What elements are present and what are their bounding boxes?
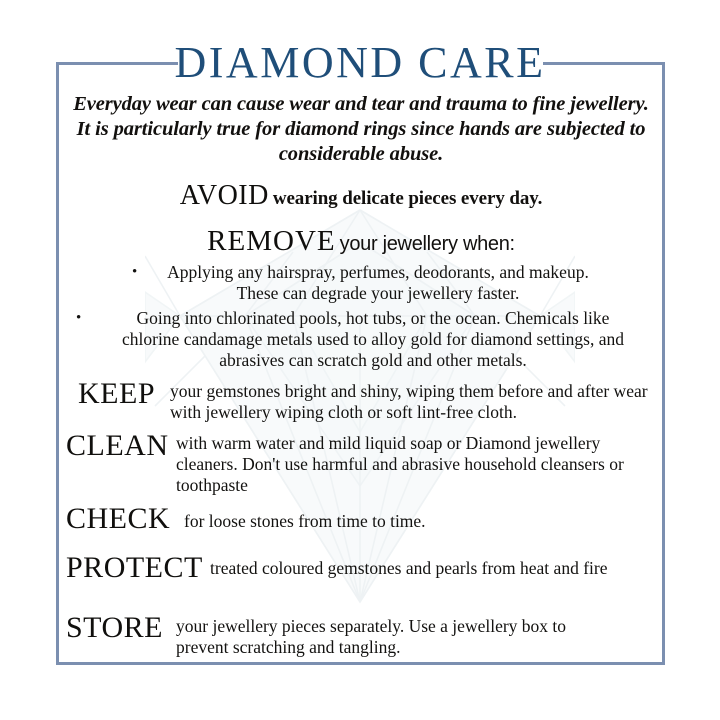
diamond-care-poster: DIAMOND CARE Everyday wear can cause wea…	[0, 0, 720, 720]
section-keyword: CLEAN	[66, 430, 169, 462]
avoid-line: AVOID wearing delicate pieces every day.	[66, 180, 656, 212]
bullet-icon: •	[76, 308, 81, 329]
intro-paragraph: Everyday wear can cause wear and tear an…	[66, 92, 656, 167]
section-keyword: KEEP	[78, 378, 155, 410]
section-keyword: CHECK	[66, 503, 170, 535]
remove-keyword: REMOVE	[207, 225, 335, 257]
list-item-text: Applying any hairspray, perfumes, deodor…	[167, 262, 589, 303]
remove-bullet-list: • Applying any hairspray, perfumes, deod…	[66, 262, 656, 375]
avoid-keyword: AVOID	[180, 180, 269, 211]
list-item: • Going into chlorinated pools, hot tubs…	[66, 308, 656, 371]
section-keyword: PROTECT	[66, 552, 203, 584]
poster-content: DIAMOND CARE Everyday wear can cause wea…	[0, 0, 720, 720]
remove-text: your jewellery when:	[340, 233, 515, 255]
section-text: treated coloured gemstones and pearls fr…	[210, 558, 650, 579]
section-text: for loose stones from time to time.	[184, 511, 654, 532]
section-text: with warm water and mild liquid soap or …	[176, 433, 662, 496]
avoid-text: wearing delicate pieces every day.	[273, 188, 542, 209]
list-item: • Applying any hairspray, perfumes, deod…	[66, 262, 656, 304]
remove-line: REMOVE your jewellery when:	[66, 225, 656, 258]
page-title: DIAMOND CARE	[0, 40, 720, 86]
section-text: your gemstones bright and shiny, wiping …	[170, 381, 660, 423]
section-keyword: STORE	[66, 612, 163, 644]
section-text: your jewellery pieces separately. Use a …	[176, 616, 616, 658]
list-item-text: Going into chlorinated pools, hot tubs, …	[122, 308, 624, 370]
bullet-icon: •	[132, 262, 137, 283]
